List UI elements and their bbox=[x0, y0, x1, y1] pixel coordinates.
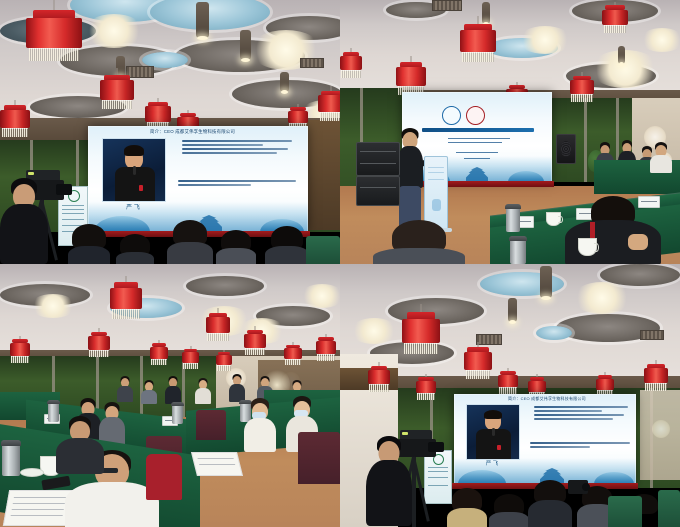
thermos-flask bbox=[2, 440, 20, 476]
road-case-tr bbox=[356, 142, 400, 176]
foreground-delegate bbox=[376, 220, 462, 264]
led-screen-br[interactable]: 简介：CEO 成都艾伟孚生物科技有限公司 严 飞 bbox=[454, 394, 636, 484]
audience-head bbox=[170, 220, 210, 264]
ceiling-spotlight bbox=[84, 14, 144, 48]
thermos-flask bbox=[510, 236, 526, 264]
chair-bl bbox=[196, 410, 226, 440]
flower-motif bbox=[652, 420, 670, 438]
camera-lens bbox=[582, 483, 590, 491]
red-lantern bbox=[460, 16, 496, 68]
ceiling-spotlight bbox=[572, 282, 632, 314]
audience-head bbox=[218, 230, 254, 264]
red-lantern bbox=[318, 86, 340, 126]
camera-tally-light bbox=[402, 432, 408, 435]
audience-back-row bbox=[196, 378, 210, 402]
ceiling-downlight bbox=[196, 2, 209, 38]
red-lantern bbox=[464, 342, 492, 384]
red-lantern bbox=[110, 276, 142, 324]
red-lantern bbox=[316, 334, 336, 364]
cameraman-tl bbox=[0, 178, 48, 264]
audience-head bbox=[118, 234, 152, 264]
hall-room-br: 简介：CEO 成都艾伟孚生物科技有限公司 严 飞 bbox=[340, 264, 680, 527]
led-screen-tl[interactable]: 简介：CEO 成都艾伟孚生物科技有限公司 严 飞 bbox=[88, 126, 308, 232]
panel-bottom-left[interactable] bbox=[0, 264, 340, 527]
saucer bbox=[20, 468, 44, 477]
red-lantern bbox=[10, 336, 30, 366]
ceiling-downlight bbox=[618, 46, 625, 64]
cameraman-br bbox=[366, 436, 412, 527]
podium-emblem-icon bbox=[432, 199, 441, 211]
red-lantern bbox=[368, 362, 390, 396]
chair-tl bbox=[306, 236, 340, 264]
ceiling-downlight bbox=[240, 30, 251, 60]
red-lantern bbox=[244, 326, 266, 358]
screen-bezel bbox=[88, 126, 308, 232]
handheld-camera-br bbox=[568, 480, 590, 498]
hall-room-bl bbox=[0, 264, 340, 527]
red-lantern bbox=[644, 360, 668, 396]
programme-handout bbox=[3, 490, 73, 526]
red-lantern bbox=[602, 2, 628, 38]
red-lantern bbox=[182, 346, 199, 372]
audience-back-row bbox=[230, 374, 244, 400]
delegate-seated bbox=[100, 402, 124, 444]
red-lantern bbox=[150, 340, 168, 368]
red-lantern bbox=[402, 304, 440, 360]
hall-room-tr: 湖南省医学会生殖医学专业委员会2024年学术年会 主办单位：湖南省医学会生殖医学… bbox=[340, 0, 680, 264]
teapot bbox=[578, 238, 597, 256]
window-mullion bbox=[584, 98, 587, 182]
delegate-seated bbox=[650, 142, 672, 172]
red-lantern bbox=[26, 0, 82, 68]
camera-lens bbox=[56, 184, 72, 195]
ceiling-oval bbox=[186, 276, 264, 296]
red-lantern bbox=[284, 342, 302, 368]
red-lantern bbox=[100, 68, 134, 114]
chair-bl bbox=[298, 432, 340, 484]
panel-top-left[interactable]: 简介：CEO 成都艾伟孚生物科技有限公司 严 飞 bbox=[0, 0, 340, 264]
thermos-flask bbox=[506, 204, 520, 232]
delegate-seated-masked bbox=[246, 398, 274, 450]
ceiling-vent bbox=[300, 58, 324, 68]
audience-back-row bbox=[166, 376, 180, 402]
pa-speaker-tr bbox=[556, 134, 576, 164]
ceiling-downlight bbox=[280, 72, 289, 92]
audience-back-row bbox=[142, 380, 156, 402]
ceiling-downlight bbox=[540, 266, 552, 298]
chair-br bbox=[608, 496, 642, 527]
red-lantern bbox=[88, 328, 110, 360]
delegate-hand bbox=[628, 234, 648, 250]
audience-back-row bbox=[118, 376, 132, 400]
ceiling-vent bbox=[640, 330, 664, 340]
mid-delegate-bl bbox=[58, 416, 102, 472]
ceiling-spotlight bbox=[518, 26, 572, 54]
thermos-flask bbox=[172, 402, 183, 424]
ceiling-downlight bbox=[508, 298, 517, 322]
photo-collage: 简介：CEO 成都艾伟孚生物科技有限公司 严 飞 bbox=[0, 0, 680, 527]
red-lantern bbox=[206, 308, 230, 344]
red-lantern bbox=[416, 374, 436, 404]
audience-head bbox=[70, 224, 108, 264]
ceiling-oval bbox=[536, 326, 572, 340]
ceiling-spotlight bbox=[30, 294, 76, 318]
screen-bezel bbox=[454, 394, 636, 484]
red-jacket-on-chair bbox=[146, 454, 182, 500]
ceiling-spotlight bbox=[350, 318, 398, 344]
camera-lens bbox=[428, 442, 444, 452]
panel-bottom-right[interactable]: 简介：CEO 成都艾伟孚生物科技有限公司 严 飞 bbox=[340, 264, 680, 527]
audience-head bbox=[532, 480, 568, 527]
programme-handout bbox=[191, 452, 243, 476]
audience-head bbox=[268, 226, 306, 264]
panel-top-right[interactable]: 湖南省医学会生殖医学专业委员会2024年学术年会 主办单位：湖南省医学会生殖医学… bbox=[340, 0, 680, 264]
red-lantern bbox=[216, 350, 232, 374]
ceiling-vent bbox=[432, 0, 462, 11]
red-lantern bbox=[0, 100, 30, 142]
camera-tally-light bbox=[28, 172, 34, 175]
audience-head bbox=[492, 494, 526, 527]
red-lantern bbox=[340, 48, 362, 82]
ceiling-spotlight bbox=[300, 284, 340, 308]
road-case-tr bbox=[356, 176, 400, 206]
audience-head bbox=[450, 488, 484, 527]
teacup bbox=[546, 212, 561, 226]
ceiling-spotlight bbox=[640, 28, 680, 52]
hall-room-tl: 简介：CEO 成都艾伟孚生物科技有限公司 严 飞 bbox=[0, 0, 340, 264]
chair-br bbox=[658, 490, 680, 527]
decorative-wall-art-br bbox=[640, 390, 680, 480]
ceiling-spotlight bbox=[590, 50, 660, 88]
red-lantern bbox=[570, 72, 594, 106]
